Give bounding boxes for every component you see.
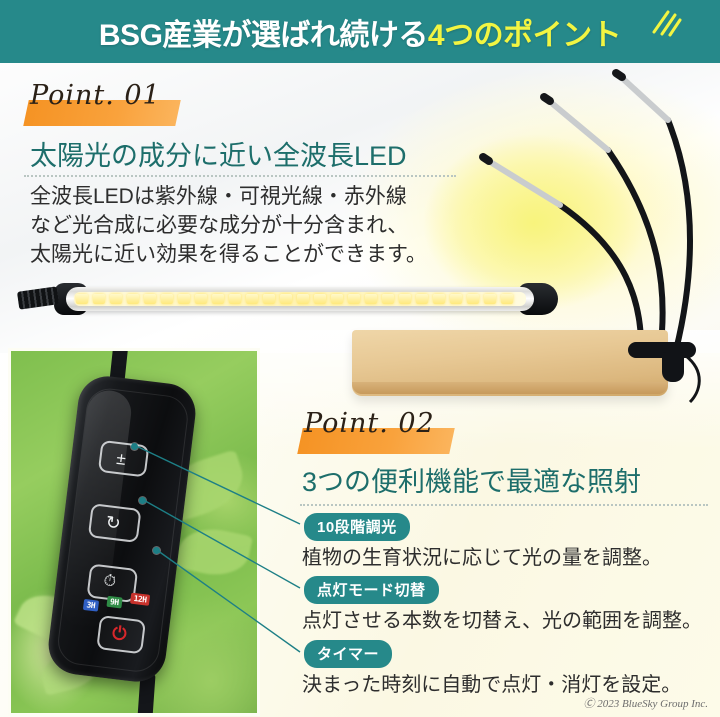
sparkle-icon [648,8,682,40]
led-chip [178,294,190,304]
feature-desc-dimming: 植物の生育状況に応じて光の量を調整。 [302,541,662,570]
led-chip [161,294,173,304]
timer-key-label: ⏱ [103,573,117,590]
led-chip [331,294,343,304]
feature-desc-mode: 点灯させる本数を切替え、光の範囲を調整。 [302,604,702,633]
callout-dot-mode [139,497,146,504]
led-chip [450,294,462,304]
led-chip [229,294,241,304]
led-chip [93,294,105,304]
point-02-tag-label: Point. 02 [304,408,435,439]
led-chip [263,294,275,304]
desk-clamp-jaw [662,352,684,382]
led-chip [484,294,496,304]
page-title: BSG産業が選ばれ続ける4つのポイント [99,10,621,54]
feature-badge-mode: 点灯モード切替 [304,576,439,604]
page-header: BSG産業が選ばれ続ける4つのポイント [0,0,720,63]
brightness-key[interactable]: ± [98,440,150,478]
led-chip [127,294,139,304]
feature-badge-timer: タイマー [304,640,392,668]
page-title-plain: BSG産業が選ばれ続ける [99,19,428,52]
feature-desc-timer: 決まった時刻に自動で点灯・消灯を設定。 [302,668,681,697]
leaf-shape [175,522,253,582]
led-chip [195,294,207,304]
desk-edge [352,382,668,394]
point-02-headline: 3つの便利機能で最適な照射 [302,460,641,499]
led-chip [76,294,88,304]
point-01-divider [24,175,456,177]
led-chip [144,294,156,304]
led-chip [416,294,428,304]
led-chip [467,294,479,304]
point-01-headline: 太陽光の成分に近い全波長LED [30,134,407,173]
mode-cycle-key[interactable]: ↻ [88,503,142,543]
controller-photo: ± ↻ ⏱ ⏻ 3H 9H 12H [8,348,260,716]
copyright-text: Ⓒ 2023 BlueSky Group Inc. [583,695,708,711]
point-01-body-line-1: 全波長LEDは紫外線・可視光線・赤外線 [30,182,407,212]
led-chip [314,294,326,304]
led-chip [433,294,445,304]
led-chip [348,294,360,304]
led-chip [212,294,224,304]
led-bar-connector [17,286,59,309]
timer-indicator-12h: 12H [130,593,150,606]
infographic-page: BSG産業が選ばれ続ける4つのポイント [0,0,720,717]
led-chip [297,294,309,304]
point-01-body-line-2: など光合成に必要な成分が十分含まれ、 [30,211,408,241]
mode-cycle-key-label: ↻ [105,513,122,533]
feature-badge-dimming: 10段階調光 [304,513,410,541]
point-01-tag-label: Point. 01 [30,80,161,111]
point-02-divider [300,504,708,506]
callout-dot-timer [153,547,160,554]
brightness-key-label: ± [116,450,127,468]
point-01-body-line-3: 太陽光に近い効果を得ることができます。 [30,240,427,270]
led-bar-product [18,281,578,317]
led-chip [110,294,122,304]
led-chip [365,294,377,304]
page-title-highlight: 4つのポイント [428,19,621,52]
power-key-label: ⏻ [111,624,127,644]
callout-dot-brightness [131,443,138,450]
led-chip [501,294,513,304]
controller-body: ± ↻ ⏱ ⏻ 3H 9H 12H [45,373,199,685]
led-chip [246,294,258,304]
led-chip [399,294,411,304]
timer-indicator-9h: 9H [106,596,122,609]
led-chip [280,294,292,304]
timer-indicator-3h: 3H [83,599,99,612]
led-chip [382,294,394,304]
power-key[interactable]: ⏻ [96,615,146,654]
